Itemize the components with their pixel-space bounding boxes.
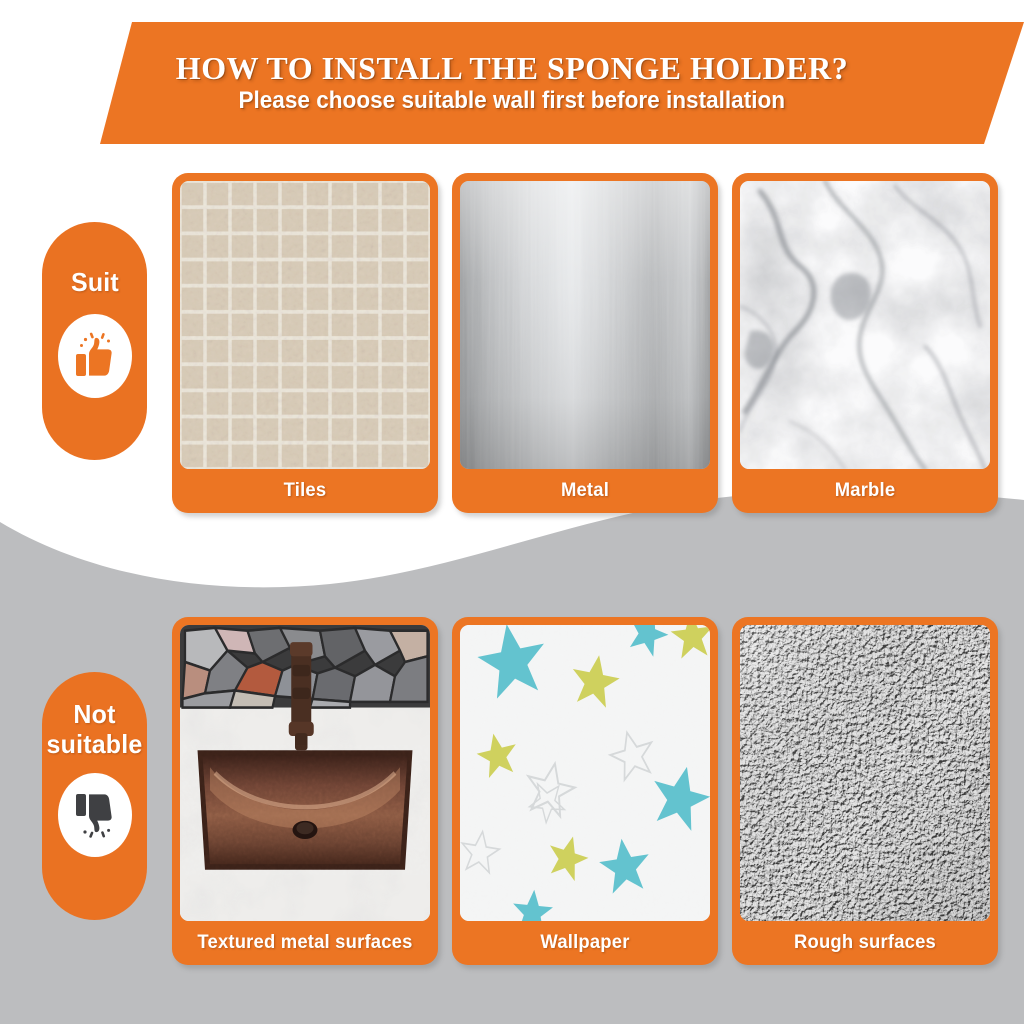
- card-metal-caption: Metal: [464, 469, 707, 513]
- page-subtitle: Please choose suitable wall first before…: [239, 88, 786, 114]
- star-wallpaper-texture: [460, 625, 710, 921]
- badge-suitable-label: Suit: [71, 268, 119, 298]
- marble-texture: [740, 181, 990, 469]
- card-rough-surfaces-caption: Rough surfaces: [744, 921, 987, 965]
- card-tiles[interactable]: Tiles: [172, 173, 438, 513]
- card-marble[interactable]: Marble: [732, 173, 998, 513]
- mosaic-tile-texture: [180, 181, 430, 469]
- card-rough-surfaces[interactable]: Rough surfaces: [732, 617, 998, 965]
- card-textured-metal-caption: Textured metal surfaces: [184, 921, 427, 965]
- infographic-root: HOW TO INSTALL THE SPONGE HOLDER? Please…: [0, 0, 1024, 1024]
- badge-suitable: Suit: [42, 222, 147, 460]
- brushed-metal-texture: [460, 181, 710, 469]
- card-metal[interactable]: Metal: [452, 173, 718, 513]
- header-banner: HOW TO INSTALL THE SPONGE HOLDER? Please…: [0, 22, 1024, 144]
- card-wallpaper-caption: Wallpaper: [464, 921, 707, 965]
- badge-suitable-icon-circle: [58, 314, 132, 398]
- page-title: HOW TO INSTALL THE SPONGE HOLDER?: [176, 52, 848, 86]
- copper-sink-photo: [180, 625, 430, 921]
- stipple-plaster-texture: [740, 625, 990, 921]
- badge-not-suitable-icon-circle: [58, 773, 132, 857]
- badge-not-suitable: Not suitable: [42, 672, 147, 920]
- thumbs-down-icon: [74, 791, 116, 839]
- card-tiles-caption: Tiles: [184, 469, 427, 513]
- card-marble-caption: Marble: [744, 469, 987, 513]
- badge-not-suitable-label: Not suitable: [44, 700, 145, 759]
- card-wallpaper[interactable]: Wallpaper: [452, 617, 718, 965]
- thumbs-up-icon: [74, 332, 116, 380]
- card-textured-metal[interactable]: Textured metal surfaces: [172, 617, 438, 965]
